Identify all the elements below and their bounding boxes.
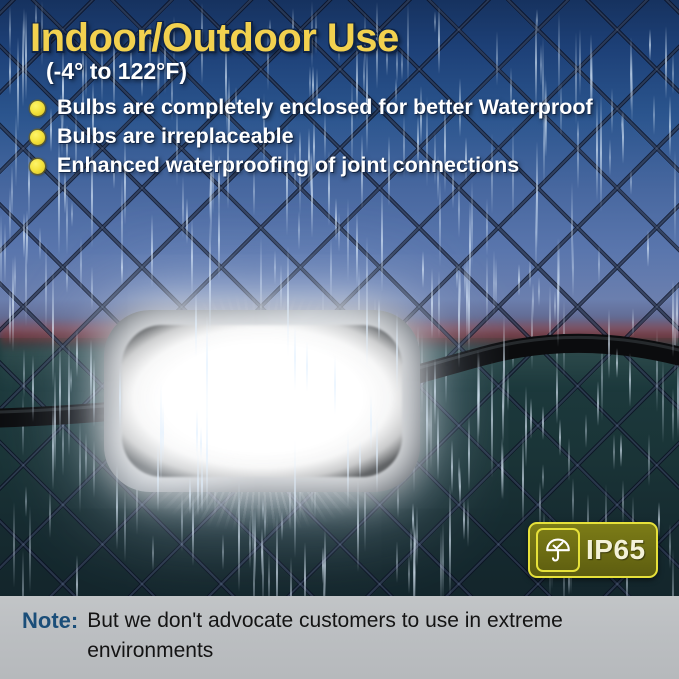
- bullet-dot-icon: [30, 159, 45, 174]
- list-item-label: Bulbs are irreplaceable: [57, 123, 660, 150]
- list-item-label: Enhanced waterproofing of joint connecti…: [57, 152, 660, 179]
- list-item: Bulbs are completely enclosed for better…: [30, 94, 660, 121]
- feature-bullet-list: Bulbs are completely enclosed for better…: [30, 94, 660, 181]
- list-item-label: Bulbs are completely enclosed for better…: [57, 94, 660, 121]
- list-item: Enhanced waterproofing of joint connecti…: [30, 152, 660, 179]
- status-badge: IP65: [528, 522, 658, 578]
- note-text: But we don't advocate customers to use i…: [87, 606, 643, 666]
- bullet-dot-icon: [30, 101, 45, 116]
- bullet-dot-icon: [30, 130, 45, 145]
- temperature-range-subtitle: (-4° to 122°F): [46, 58, 187, 85]
- ip-rating-label: IP65: [586, 534, 646, 566]
- page-title: Indoor/Outdoor Use: [30, 16, 399, 61]
- list-item: Bulbs are irreplaceable: [30, 123, 660, 150]
- note-label: Note:: [22, 606, 78, 636]
- rain-streaks-front: [0, 0, 679, 600]
- product-feature-poster: Indoor/Outdoor Use (-4° to 122°F) Bulbs …: [0, 0, 679, 679]
- umbrella-check-icon: [536, 528, 580, 572]
- note-bar: Note: But we don't advocate customers to…: [0, 596, 679, 679]
